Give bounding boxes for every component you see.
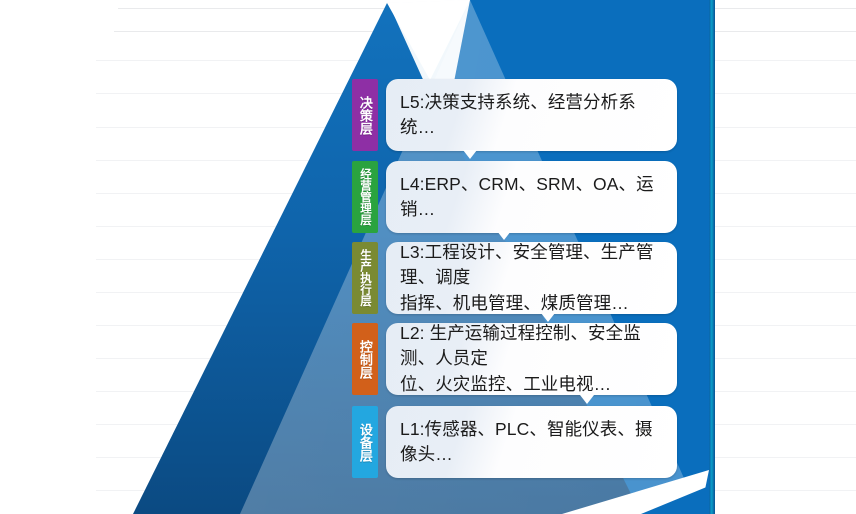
layer-text-l5: L5:决策支持系统、经营分析系统… — [400, 90, 663, 141]
arrow-down-icon — [580, 395, 594, 404]
layer-tab-label: 控制层 — [358, 340, 372, 379]
layer-text-l4: L4:ERP、CRM、SRM、OA、运销… — [400, 172, 663, 223]
layer-row-l1[interactable]: 设备层 L1:传感器、PLC、智能仪表、摄像头… — [352, 406, 677, 478]
arrow-down-icon — [541, 313, 555, 322]
layer-row-l4[interactable]: 经营管理层 L4:ERP、CRM、SRM、OA、运销… — [352, 161, 677, 233]
arrow-down-icon — [497, 231, 511, 240]
layer-text-l2: L2: 生产运输过程控制、安全监测、人员定 位、火灾监控、工业电视… — [400, 321, 663, 397]
layer-tab-label: 生产执行层 — [359, 249, 371, 307]
layer-card-l2[interactable]: L2: 生产运输过程控制、安全监测、人员定 位、火灾监控、工业电视… — [386, 323, 677, 395]
layer-row-l3[interactable]: 生产执行层 L3:工程设计、安全管理、生产管理、调度 指挥、机电管理、煤质管理… — [352, 242, 677, 314]
layer-text-line: L1:传感器、PLC、智能仪表、摄像头… — [400, 417, 663, 468]
layer-text-line: 指挥、机电管理、煤质管理… — [400, 291, 663, 316]
layer-tab-l5[interactable]: 决策层 — [352, 79, 378, 151]
layer-tab-l3[interactable]: 生产执行层 — [352, 242, 378, 314]
layer-tab-l4[interactable]: 经营管理层 — [352, 161, 378, 233]
layer-row-l2[interactable]: 控制层 L2: 生产运输过程控制、安全监测、人员定 位、火灾监控、工业电视… — [352, 323, 677, 395]
layer-text-l3: L3:工程设计、安全管理、生产管理、调度 指挥、机电管理、煤质管理… — [400, 240, 663, 316]
layer-card-l3[interactable]: L3:工程设计、安全管理、生产管理、调度 指挥、机电管理、煤质管理… — [386, 242, 677, 314]
layer-text-l1: L1:传感器、PLC、智能仪表、摄像头… — [400, 417, 663, 468]
pyramid-diagram-canvas: 决策层 L5:决策支持系统、经营分析系统… 经营管理层 L4:ERP、CRM、S… — [0, 0, 856, 514]
layer-card-l1[interactable]: L1:传感器、PLC、智能仪表、摄像头… — [386, 406, 677, 478]
layer-tab-label: 设备层 — [358, 423, 372, 462]
layer-text-line: 位、火灾监控、工业电视… — [400, 372, 663, 397]
layer-row-l5[interactable]: 决策层 L5:决策支持系统、经营分析系统… — [352, 79, 677, 151]
layer-tab-label: 经营管理层 — [359, 168, 371, 226]
layer-text-line: L5:决策支持系统、经营分析系统… — [400, 90, 663, 141]
layer-tab-l2[interactable]: 控制层 — [352, 323, 378, 395]
arrow-down-icon — [463, 150, 477, 159]
layer-text-line: L4:ERP、CRM、SRM、OA、运销… — [400, 172, 663, 223]
layer-text-line: L2: 生产运输过程控制、安全监测、人员定 — [400, 321, 663, 372]
layer-card-l4[interactable]: L4:ERP、CRM、SRM、OA、运销… — [386, 161, 677, 233]
layer-card-l5[interactable]: L5:决策支持系统、经营分析系统… — [386, 79, 677, 151]
layer-text-line: L3:工程设计、安全管理、生产管理、调度 — [400, 240, 663, 291]
layer-tab-label: 决策层 — [358, 96, 372, 135]
layer-tab-l1[interactable]: 设备层 — [352, 406, 378, 478]
